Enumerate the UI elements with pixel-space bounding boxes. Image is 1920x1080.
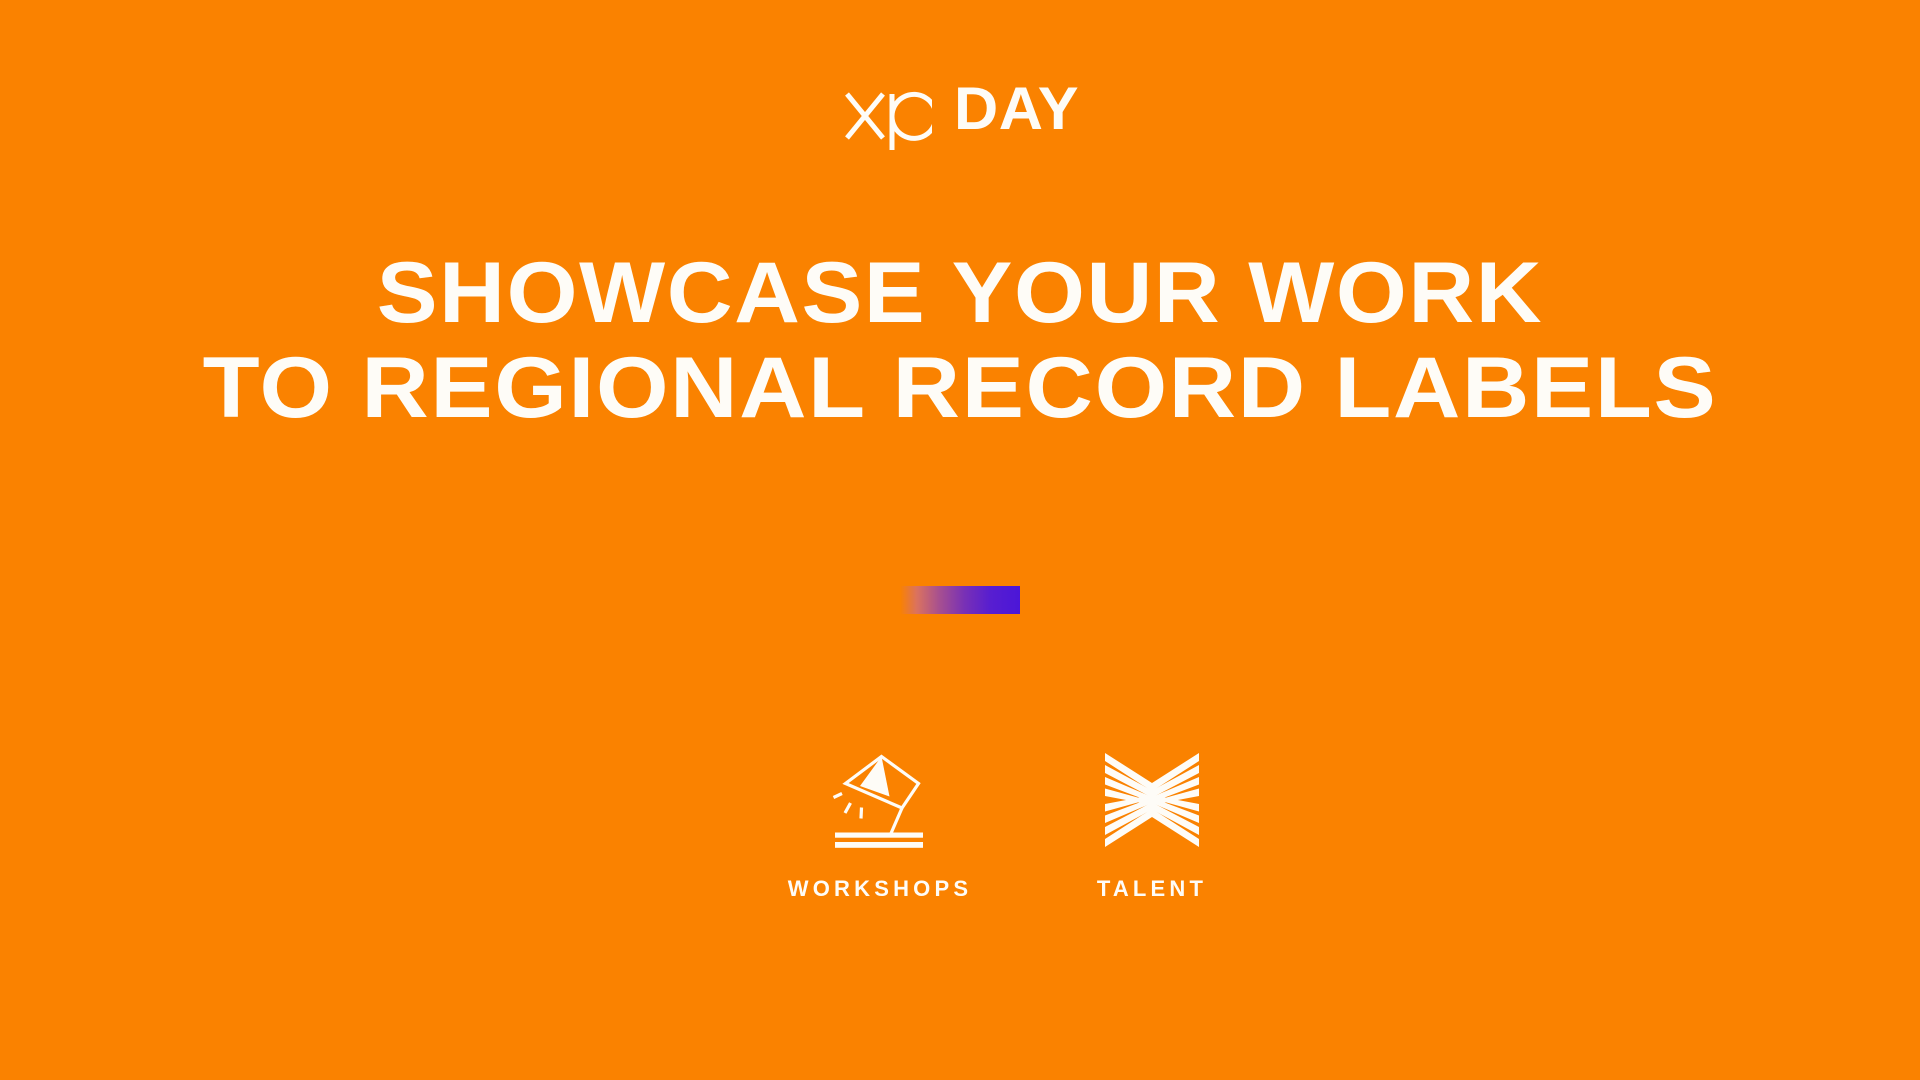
xp-wordmark-icon bbox=[844, 78, 932, 150]
headline-line-2: TO REGIONAL RECORD LABELS bbox=[0, 341, 1920, 436]
logo-day-text: DAY bbox=[954, 78, 1079, 140]
desk-lamp-icon bbox=[828, 748, 932, 852]
promo-slide: DAY SHOWCASE YOUR WORK TO REGIONAL RECOR… bbox=[0, 0, 1920, 1080]
brand-logo[interactable]: DAY bbox=[0, 78, 1920, 168]
gradient-accent-bar bbox=[900, 586, 1020, 614]
accent-bar-container bbox=[0, 586, 1920, 614]
page-title: SHOWCASE YOUR WORK TO REGIONAL RECORD LA… bbox=[0, 246, 1920, 436]
butterfly-chevron-icon bbox=[1100, 748, 1204, 852]
category-item-workshops[interactable]: WORKSHOPS bbox=[775, 748, 985, 902]
category-item-talent[interactable]: TALENT bbox=[1047, 748, 1257, 902]
headline-line-1: SHOWCASE YOUR WORK bbox=[0, 246, 1920, 341]
category-label-talent: TALENT bbox=[1097, 876, 1207, 902]
category-row: WORKSHOPS bbox=[0, 748, 1920, 902]
category-label-workshops: WORKSHOPS bbox=[788, 876, 972, 902]
